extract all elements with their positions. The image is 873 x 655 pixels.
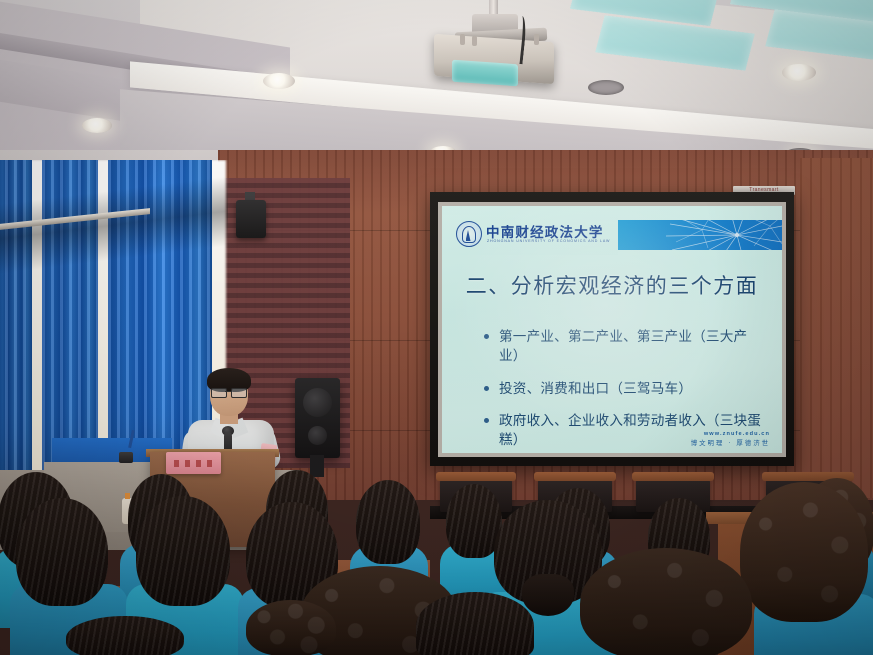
hair-texture xyxy=(66,616,184,655)
bullet-text: 投资、消费和出口（三驾马车） xyxy=(499,381,692,397)
slide-footer: www.znufe.edu.cn 博文明理 · 厚德济世 xyxy=(691,431,770,447)
speaker-cone xyxy=(308,426,327,445)
audience-hair xyxy=(136,496,230,606)
hair-texture xyxy=(246,600,336,655)
bullet-text: 第一产业、第二产业、第三产业（三大产业） xyxy=(499,329,747,364)
university-seal-icon xyxy=(456,221,482,247)
chair-frame xyxy=(632,472,714,481)
bullet-dot-icon xyxy=(484,386,489,391)
curtain-panel xyxy=(0,160,32,490)
hair-texture xyxy=(356,480,420,564)
downlight-icon xyxy=(782,64,816,81)
list-item: 投资、消费和出口（三驾马车） xyxy=(482,380,768,399)
downlight-icon xyxy=(82,118,112,133)
bullet-dot-icon xyxy=(484,334,489,339)
starburst-graphic xyxy=(642,220,782,250)
cup xyxy=(119,452,133,463)
list-item xyxy=(66,616,186,655)
footer-motto: 博文明理 · 厚德济世 xyxy=(691,438,770,447)
hair-texture xyxy=(16,498,108,606)
audience-hair xyxy=(416,592,534,655)
presentation-slide: 中南财经政法大学 ZHONGNAN UNIVERSITY OF ECONOMIC… xyxy=(442,206,782,453)
university-name-en: ZHONGNAN UNIVERSITY OF ECONOMICS AND LAW xyxy=(487,239,610,243)
ceiling-vent xyxy=(588,80,624,95)
floor-speaker xyxy=(295,378,340,458)
lens xyxy=(211,388,227,398)
wall-speaker xyxy=(236,200,266,238)
projector-knob xyxy=(472,36,477,46)
audience-hair xyxy=(356,480,420,564)
chair-frame xyxy=(534,472,616,481)
chair-frame xyxy=(436,472,516,481)
projection-screen: 中南财经政法大学 ZHONGNAN UNIVERSITY OF ECONOMIC… xyxy=(430,192,794,466)
downlight-icon xyxy=(263,73,295,89)
audience-hair xyxy=(66,616,184,655)
projector-lens xyxy=(452,60,518,87)
eyeglasses-icon xyxy=(211,388,247,396)
lecture-hall-photo: Tranesmart xyxy=(0,0,873,655)
hair-texture xyxy=(136,496,230,606)
hair-texture xyxy=(416,592,534,655)
audience-hair xyxy=(580,548,752,655)
screen-surface: 中南财经政法大学 ZHONGNAN UNIVERSITY OF ECONOMIC… xyxy=(438,202,786,457)
university-name-cn: 中南财经政法大学 xyxy=(486,221,604,241)
wood-wall-right xyxy=(800,158,873,498)
audience-hair xyxy=(16,498,108,606)
hair-texture xyxy=(580,548,752,655)
podium-nameplate xyxy=(166,452,221,474)
list-item: 第一产业、第二产业、第三产业（三大产业） xyxy=(482,328,768,367)
list-item xyxy=(416,592,536,655)
footer-url: www.znufe.edu.cn xyxy=(691,431,770,437)
list-item xyxy=(580,548,760,655)
list-item xyxy=(246,600,338,655)
projector-knob xyxy=(534,34,539,45)
audience-hair xyxy=(246,600,336,655)
lens xyxy=(231,388,247,398)
slide-title: 二、分析宏观经济的三个方面 xyxy=(442,270,782,300)
ceiling xyxy=(0,0,873,170)
projector-knob xyxy=(460,34,465,45)
speaker-cone xyxy=(303,388,332,417)
university-logo: 中南财经政法大学 ZHONGNAN UNIVERSITY OF ECONOMIC… xyxy=(442,215,618,255)
bullet-dot-icon xyxy=(484,418,489,423)
